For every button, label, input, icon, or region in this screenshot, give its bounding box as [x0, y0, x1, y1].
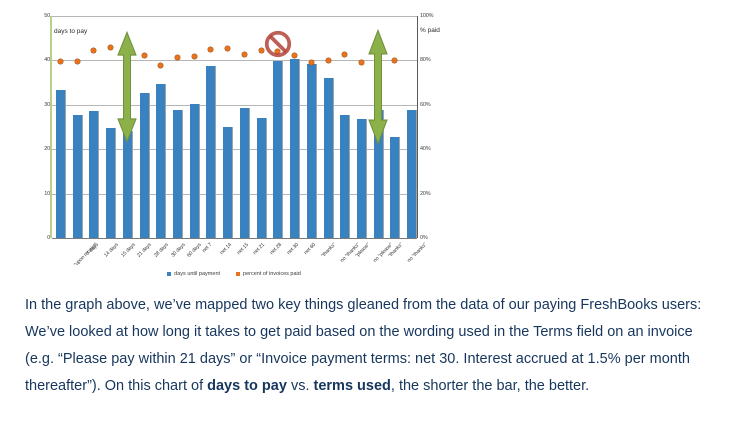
bar	[156, 84, 166, 238]
bar	[407, 110, 417, 238]
paragraph-text-part-2: vs.	[287, 378, 314, 394]
emphasis-terms-used: terms used	[314, 378, 391, 394]
x-axis-tick-label: 30 days	[170, 242, 187, 259]
data-point-dot	[158, 63, 163, 68]
plot-area: 010203040500%20%40%60%80%100%	[50, 16, 418, 238]
bar	[56, 90, 66, 238]
bar	[273, 61, 283, 238]
bar	[123, 131, 133, 238]
y-axis-tick-label: 20	[44, 146, 50, 152]
legend-swatch-orange	[236, 272, 240, 276]
y2-axis-tick-label: 60%	[420, 102, 430, 108]
bar	[73, 115, 83, 238]
x-axis-tick-label: net 15	[236, 242, 250, 256]
data-point-dot	[142, 53, 147, 58]
y2-axis-tick-label: 20%	[420, 191, 430, 197]
gridline	[52, 105, 417, 106]
x-axis-tick-label: 21 days	[136, 242, 153, 259]
x-axis-tick-label: net 21	[252, 242, 266, 256]
data-point-dot	[359, 60, 364, 65]
gridline	[52, 238, 417, 239]
legend-swatch-blue	[167, 272, 171, 276]
emphasis-days-to-pay: days to pay	[207, 378, 287, 394]
green-double-arrow-annotation	[117, 30, 137, 144]
legend-item-percent-of-invoices-paid: percent of invoices paid	[236, 271, 301, 277]
y2-axis-tick-label: 40%	[420, 146, 430, 152]
x-axis-tick-label: 60 days	[187, 242, 204, 259]
bar	[324, 78, 334, 238]
bar	[140, 93, 150, 238]
x-axis-tick-label: net 60	[303, 242, 317, 256]
x-axis-tick-label: 7 days	[85, 242, 100, 257]
bar	[206, 66, 216, 238]
bar	[223, 127, 233, 238]
bar	[307, 64, 317, 238]
legend-label-percent-of-invoices-paid: percent of invoices paid	[243, 271, 301, 277]
y2-axis-tick-label: 100%	[420, 13, 433, 19]
data-point-dot	[342, 52, 347, 57]
right-axis-title: % paid	[420, 27, 440, 34]
bar	[290, 59, 300, 238]
bar	[257, 118, 267, 238]
data-point-dot	[91, 48, 96, 53]
x-axis-tick-label: net 7	[201, 242, 213, 254]
data-point-dot	[392, 58, 397, 63]
x-axis-tick-label: “thanks”	[321, 242, 338, 259]
bar	[190, 104, 200, 238]
x-axis-tick-label: 14 days	[103, 242, 120, 259]
bar	[89, 111, 99, 238]
x-axis-tick-label: net 14	[219, 242, 233, 256]
green-double-arrow-annotation	[368, 28, 388, 146]
chart-legend: days until payment percent of invoices p…	[50, 271, 418, 277]
bar	[240, 108, 250, 238]
data-point-dot	[326, 58, 331, 63]
data-point-dot	[225, 46, 230, 51]
y2-axis-tick-label: 80%	[420, 57, 430, 63]
paragraph-text-part-3: , the shorter the bar, the better.	[391, 378, 589, 394]
x-axis-tick-label: 28 days	[153, 242, 170, 259]
no-symbol-annotation	[263, 29, 293, 59]
data-point-dot	[58, 59, 63, 64]
legend-label-days-until-payment: days until payment	[174, 271, 220, 277]
x-axis-tick-label: net 30	[286, 242, 300, 256]
data-point-dot	[208, 47, 213, 52]
y-axis-tick-label: 10	[44, 191, 50, 197]
bar	[340, 115, 350, 238]
data-point-dot	[75, 59, 80, 64]
x-axis-tick-label: no “thanks”	[406, 242, 428, 264]
x-axis-tick-labels: “upon receipt”7 days14 days15 days21 day…	[50, 240, 418, 286]
data-point-dot	[242, 52, 247, 57]
data-point-dot	[192, 54, 197, 59]
bar	[357, 119, 367, 238]
x-axis-tick-label: net 28	[269, 242, 283, 256]
chart-figure: days to pay % paid 010203040500%20%40%60…	[28, 8, 448, 290]
y-axis-tick-label: 50	[44, 13, 50, 19]
bar	[173, 110, 183, 238]
data-point-dot	[108, 45, 113, 50]
legend-item-days-until-payment: days until payment	[167, 271, 220, 277]
body-paragraph: In the graph above, we’ve mapped two key…	[25, 292, 715, 400]
gridline	[52, 16, 417, 17]
y2-axis-tick-label: 0%	[420, 235, 428, 241]
y-axis-tick-label: 40	[44, 57, 50, 63]
bar	[106, 128, 116, 238]
bar	[390, 137, 400, 238]
y-axis-tick-label: 30	[44, 102, 50, 108]
x-axis-tick-label: 15 days	[120, 242, 137, 259]
